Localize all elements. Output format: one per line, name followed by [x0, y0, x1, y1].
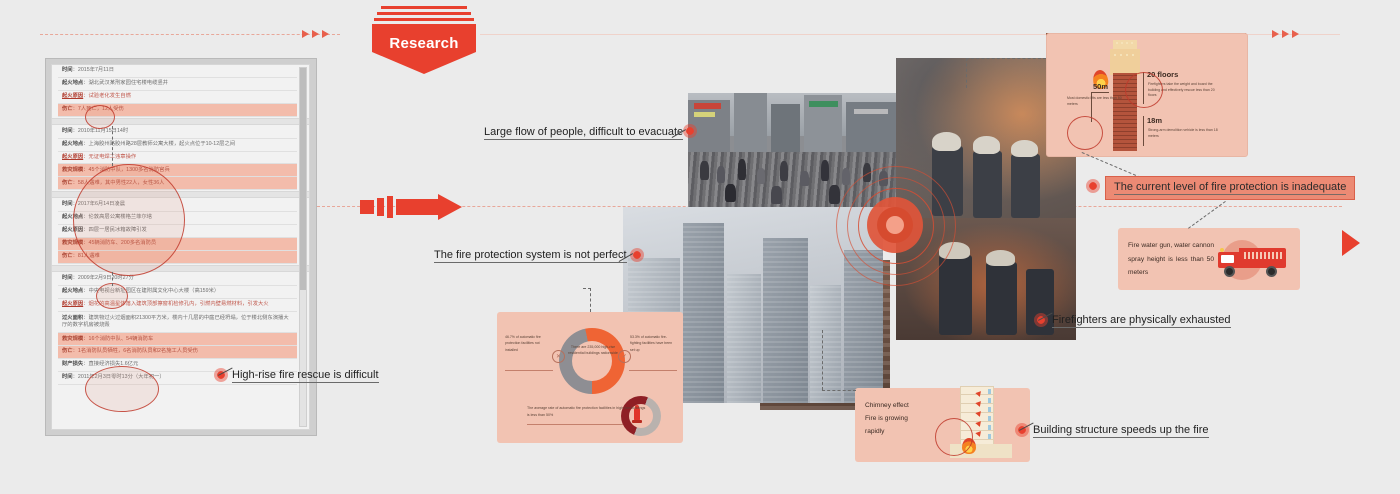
chart-connector-left [583, 288, 591, 289]
document-row-label: 财产损失 [62, 361, 83, 367]
document-row: 伤亡：1名消防队员牺牲，6名消防队员和2名施工人员受伤 [58, 346, 297, 359]
inadequate-protection-label: The current level of fire protection is … [1114, 181, 1346, 195]
chimney-connector [822, 330, 823, 390]
chimney-line-1: Chimney effect [865, 400, 941, 413]
check-icon: ✓ [618, 350, 631, 363]
callout-exhausted: Firefighters are physically exhausted [1052, 314, 1231, 328]
chimney-line-3: rapidly [865, 426, 941, 439]
chevron-icon [322, 30, 329, 38]
chimney-text: Chimney effect Fire is growing rapidly [865, 400, 941, 439]
donut-right-label: 53.3% of automatic fire-fighting facilit… [630, 334, 676, 353]
research-banner: Research [372, 0, 476, 78]
donut-left-label: 46.7% of automatic fire protection facil… [505, 334, 551, 353]
callout-structure: Building structure speeds up the fire [1033, 424, 1209, 438]
annotation-ellipse [96, 283, 128, 309]
document-row: 时间：2015年7月11日 [58, 65, 297, 78]
fire-truck-card: Fire water gun, water cannon spray heigh… [1118, 228, 1300, 290]
annotation-ellipse [73, 164, 185, 276]
vehicle-height-value: 18m [1147, 116, 1162, 125]
document-row-label: 救灾规模 [62, 167, 83, 173]
document-row: 救灾规模：16个消防中队、54辆消防车 [58, 333, 297, 346]
chart-connector [590, 288, 591, 312]
callout-system: The fire protection system is not perfec… [434, 249, 627, 263]
chart-rule [527, 424, 623, 425]
document-row: 时间：2009年2月9日20时27分 [58, 273, 297, 286]
document-row-value: ：16个消防中队、54辆消防车 [83, 336, 153, 342]
chevron-icon [1282, 30, 1289, 38]
document-row-label: 起火地点 [62, 80, 83, 86]
annotation-connector [112, 272, 113, 286]
infographic-connector [966, 58, 967, 88]
document-row-value: ：无证电焊工违章操作 [83, 154, 136, 160]
document-row-label: 起火原因 [62, 93, 83, 99]
fire-protection-chart-card: There are 235,000 high-rise residential … [497, 312, 683, 443]
document-row-label: 起火地点 [62, 141, 83, 147]
document-row-label: 救灾规模 [62, 336, 83, 342]
banner-stripes [374, 6, 474, 24]
donut-center-label: There are 235,000 high-rise residential … [567, 344, 619, 357]
document-row-label: 伤亡 [62, 106, 73, 112]
marker-dot [1086, 179, 1100, 193]
document-row-label: 时间 [62, 128, 73, 134]
guide-line-top [40, 34, 340, 35]
document-row-label: 起火原因 [62, 301, 83, 307]
chevron-icon [1272, 30, 1279, 38]
document-row: 起火地点：中央电视台新址园区在建附属文化中心大楼（高159米） [58, 286, 297, 299]
building-height-infographic: 50m Most domestic lifts are less than 50… [1046, 33, 1248, 157]
callout-highrise: High-rise fire rescue is difficult [232, 369, 379, 383]
infographic-connector [966, 58, 1046, 59]
chart-rule [629, 370, 677, 371]
fire-truck-text: Fire water gun, water cannon spray heigh… [1128, 239, 1214, 280]
marker-dot [630, 248, 644, 262]
annotation-ellipse [85, 366, 159, 412]
document-row-value: ：2015年7月11日 [73, 67, 114, 73]
chevron-icon [312, 30, 319, 38]
ripple-graphic [836, 166, 954, 284]
chart-rule [505, 370, 553, 371]
tick-mark [1143, 116, 1144, 146]
lift-height-text: Most domestic lifts are less than 50 met… [1067, 96, 1125, 107]
document-row-label: 时间 [62, 67, 73, 73]
annotation-ellipse [935, 418, 973, 456]
document-row-value: ：建筑物过火过烟面积21300平方米，楼内十几层的中庭已经坍塌，位于楼北侧东演播… [62, 315, 289, 328]
annotation-ellipse [1067, 116, 1103, 150]
banner-title: Research [389, 35, 458, 52]
document-row: 起火原因：无证电焊工违章操作 [58, 152, 297, 165]
chevron-icon [302, 30, 309, 38]
document-row: 过火面积：建筑物过火过烟面积21300平方米，楼内十几层的中庭已经坍塌，位于楼北… [58, 312, 297, 334]
cross-icon: ✕ [552, 350, 565, 363]
annotation-ellipse [85, 105, 115, 129]
document-row-value: ：试验老化发生自燃 [83, 93, 131, 99]
fire-truck-icon [1218, 242, 1290, 276]
infographic-board: Research 时间：2015年7月11日起火地点：湖北武汉某刑家园住宅楼电缆… [0, 0, 1400, 494]
document-row-label: 起火地点 [62, 288, 83, 294]
document-row-label: 起火原因 [62, 154, 83, 160]
document-row-label: 伤亡 [62, 180, 73, 186]
annotation-ellipse [1125, 72, 1163, 108]
document-row: 起火原因：烟花的高温星体落入建筑顶部擦窗机检修孔内，引燃内壁易燃材料，引发大火 [58, 299, 297, 312]
marker-dot [683, 124, 697, 138]
document-row-label: 时间 [62, 275, 73, 281]
document-row-label: 伤亡 [62, 253, 73, 259]
end-arrow-icon [1342, 230, 1360, 256]
document-row-label: 时间 [62, 374, 73, 380]
document-row-label: 时间 [62, 201, 73, 207]
chart-note: The average rate of automatic fire prote… [527, 405, 647, 419]
document-row-value: ：湖北武汉某刑家园住宅楼电缆竖井 [83, 80, 168, 86]
banner-shield: Research [372, 24, 476, 74]
chimney-connector [822, 390, 856, 391]
document-separator [52, 265, 309, 272]
document-row-value: ：1名消防队员牺牲，6名消防队员和2名施工人员受伤 [73, 348, 198, 354]
chimney-line-2: Fire is growing [865, 413, 941, 426]
flow-arrow [360, 196, 460, 218]
callout-evacuate: Large flow of people, difficult to evacu… [484, 126, 683, 140]
tick-mark [1091, 92, 1109, 93]
vehicle-height-text: Strong-arm demolition vehicle is less th… [1148, 128, 1222, 139]
document-row-value: ：2009年2月9日20时27分 [73, 275, 134, 281]
document-row-label: 伤亡 [62, 348, 73, 354]
document-row: 起火地点：上海胶州路胶州路28层教师公寓大楼，起火点位于10-12层之间 [58, 139, 297, 152]
annotation-connector [112, 126, 113, 166]
automatic-fire-protection-donut [559, 328, 625, 394]
document-row-label: 过火面积 [62, 315, 83, 321]
document-row: 起火原因：试验老化发生自燃 [58, 91, 297, 104]
inadequate-protection-banner: The current level of fire protection is … [1105, 176, 1355, 200]
chevron-icon [1292, 30, 1299, 38]
chimney-effect-card: Chimney effect Fire is growing rapidly [855, 388, 1030, 462]
document-row-value: ：上海胶州路胶州路28层教师公寓大楼，起火点位于10-12层之间 [83, 141, 235, 147]
lift-height-value: 50m [1093, 82, 1108, 91]
document-row: 起火地点：湖北武汉某刑家园住宅楼电缆竖井 [58, 78, 297, 91]
